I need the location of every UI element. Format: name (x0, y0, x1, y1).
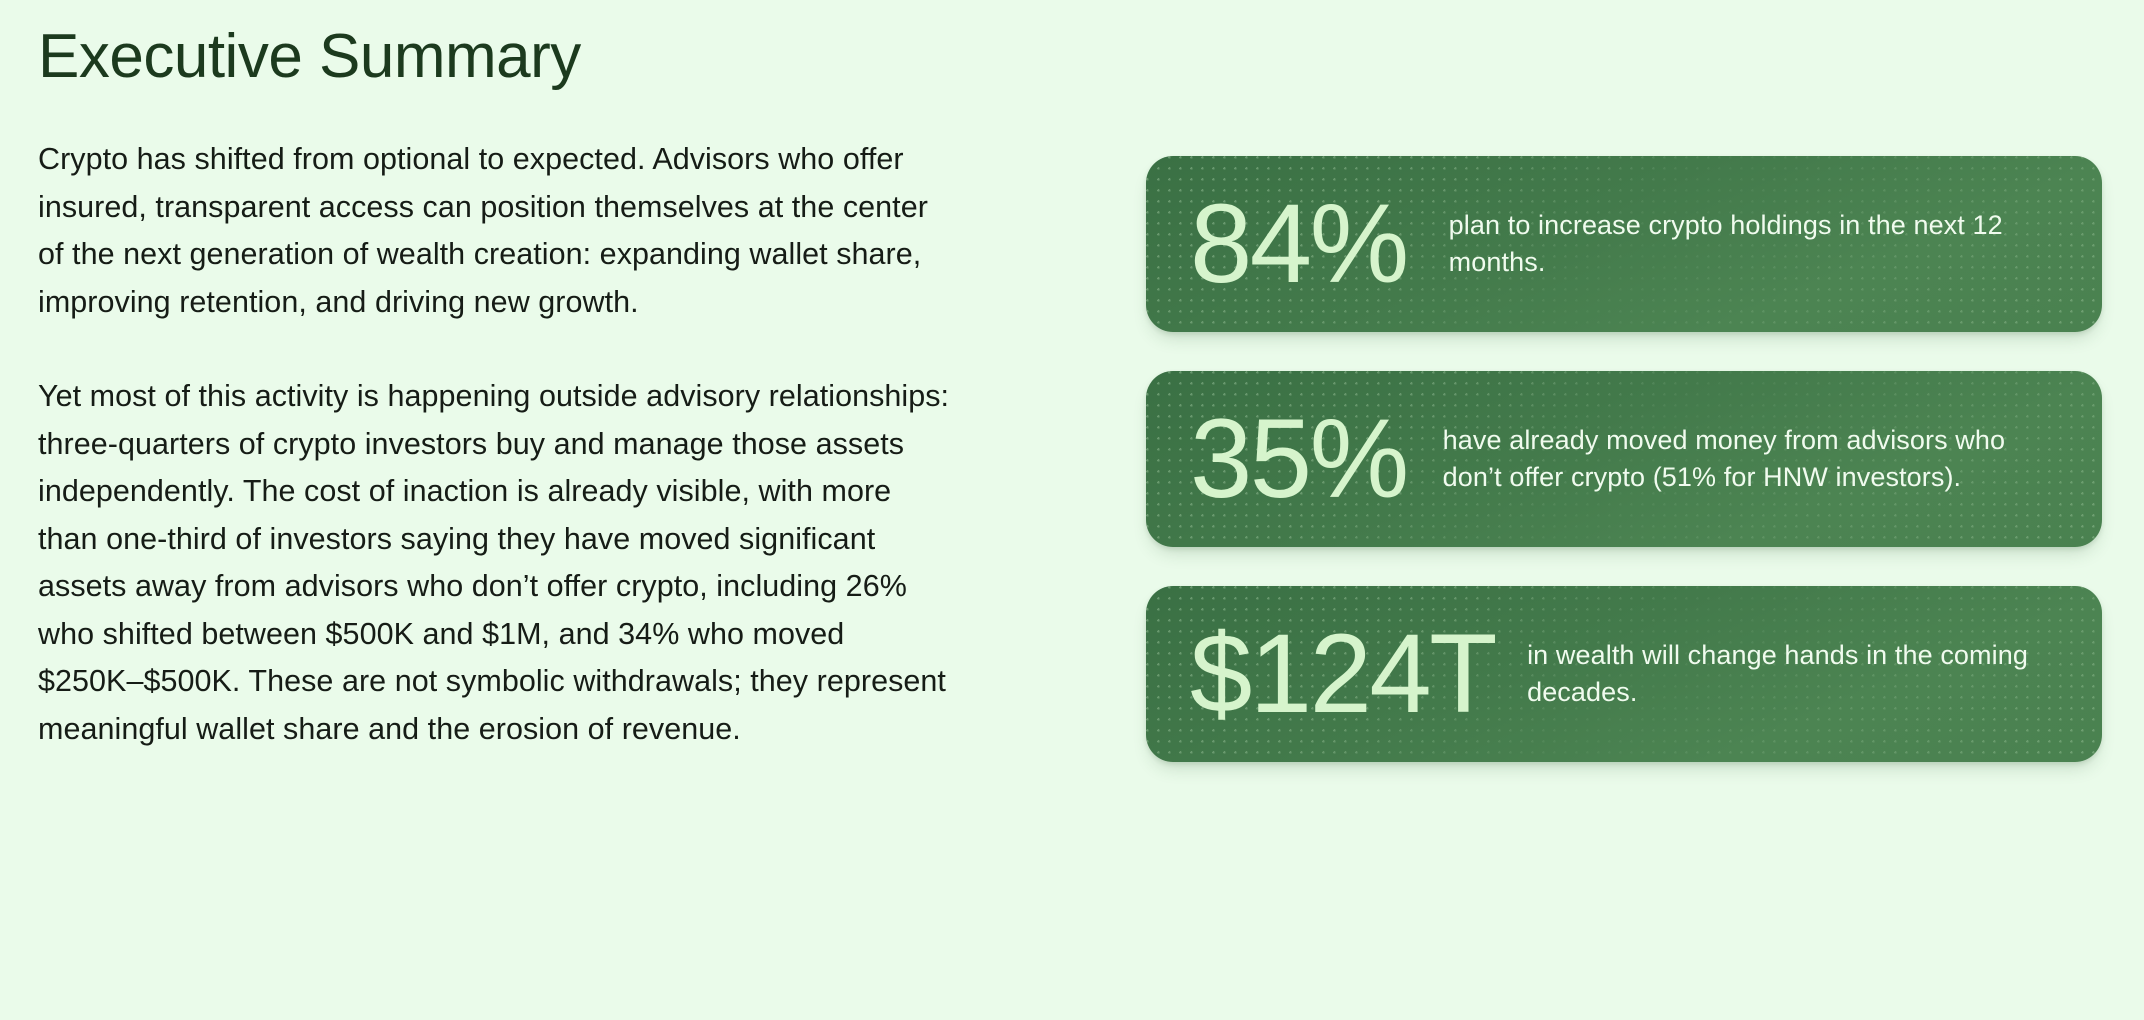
stat-cards-column: 84% plan to increase crypto holdings in … (1146, 156, 2102, 762)
executive-summary-page: Executive Summary Crypto has shifted fro… (0, 0, 2144, 1020)
summary-text-column: Executive Summary Crypto has shifted fro… (38, 24, 958, 753)
stat-card-wealth-transfer: $124T in wealth will change hands in the… (1146, 586, 2102, 762)
stat-card-moved-money: 35% have already moved money from adviso… (1146, 371, 2102, 547)
stat-caption-text: plan to increase crypto holdings in the … (1449, 207, 2068, 281)
summary-paragraph-2: Yet most of this activity is happening o… (38, 373, 958, 753)
stat-caption-text: in wealth will change hands in the comin… (1527, 637, 2068, 711)
summary-paragraph-1: Crypto has shifted from optional to expe… (38, 136, 958, 326)
stat-caption-text: have already moved money from advisors w… (1443, 422, 2068, 496)
page-title: Executive Summary (38, 24, 958, 89)
stat-figure-value: 35% (1190, 403, 1407, 515)
stat-figure-value: 84% (1190, 188, 1407, 300)
stat-card-crypto-holdings: 84% plan to increase crypto holdings in … (1146, 156, 2102, 332)
stat-figure-value: $124T (1190, 618, 1495, 730)
